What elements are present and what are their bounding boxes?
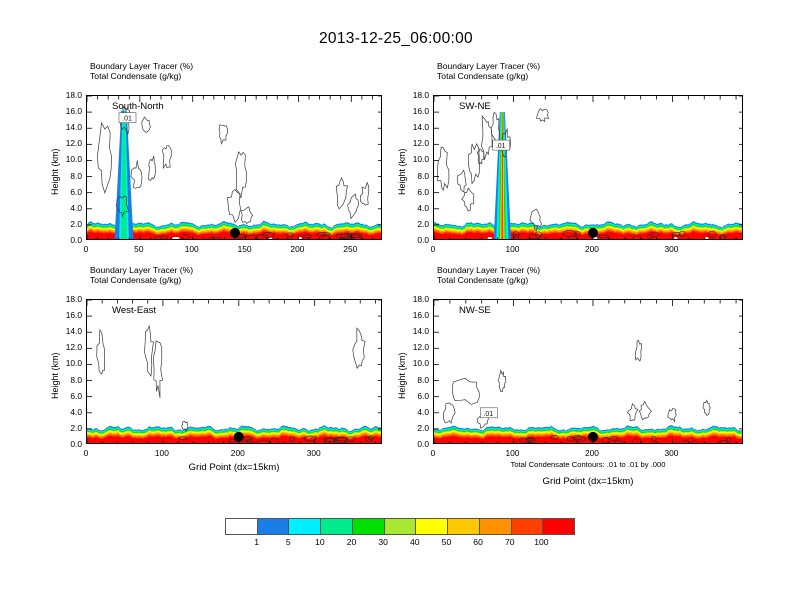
x-tick-label: 0	[413, 244, 453, 254]
condensate-contour	[360, 183, 368, 206]
condensate-contour	[481, 116, 492, 160]
colorbar-cell	[480, 519, 512, 534]
tracer-header-line: Boundary Layer Tracer (%)	[90, 265, 193, 275]
colorbar-tick-label: 40	[410, 537, 420, 547]
panel-label-south-north: South-North	[112, 101, 164, 112]
y-tick-label: 10.0	[54, 154, 82, 164]
condensate-header-line: Total Condensate (g/kg)	[437, 71, 540, 81]
panel-label-nw-se: NW-SE	[459, 305, 491, 316]
condensate-contour	[452, 378, 479, 404]
x-axis-label-nw-se: Grid Point (dx=15km)	[488, 476, 688, 487]
cross-section-field: .01	[434, 300, 743, 444]
colorbar-cell	[416, 519, 448, 534]
condensate-header-line: Total Condensate (g/kg)	[437, 275, 540, 285]
condensate-header-line: Total Condensate (g/kg)	[90, 71, 193, 81]
x-tick-label: 200	[572, 448, 612, 458]
x-tick-label: 100	[492, 244, 532, 254]
y-tick-label: 18.0	[401, 294, 429, 304]
condensate-contour	[635, 341, 642, 362]
condensate-contour	[437, 147, 449, 190]
y-tick-label: 14.0	[401, 326, 429, 336]
x-tick-label: 200	[572, 244, 612, 254]
condensate-contour	[235, 152, 246, 198]
panel-label-sw-ne: SW-NE	[459, 101, 491, 112]
condensate-contour	[131, 160, 142, 188]
colorbar-cell	[385, 519, 417, 534]
y-tick-label: 6.0	[54, 187, 82, 197]
y-tick-label: 16.0	[401, 106, 429, 116]
y-tick-label: 10.0	[54, 358, 82, 368]
figure-title: 2013-12-25_06:00:00	[0, 30, 792, 48]
condensate-contour	[639, 402, 651, 420]
y-tick-label: 12.0	[401, 138, 429, 148]
colorbar-cell	[543, 519, 574, 534]
panel-header-2: Boundary Layer Tracer (%)Total Condensat…	[437, 61, 540, 82]
x-tick-label: 100	[172, 244, 212, 254]
x-axis-label-west-east: Grid Point (dx=15km)	[134, 462, 334, 473]
y-tick-label: 16.0	[54, 310, 82, 320]
condensate-contour	[491, 112, 500, 144]
x-tick-label: 150	[225, 244, 265, 254]
x-tick-label: 200	[218, 448, 258, 458]
condensate-contour	[499, 370, 506, 391]
panel-header-3: Boundary Layer Tracer (%)Total Condensat…	[90, 265, 193, 286]
condensate-contour	[353, 328, 365, 368]
y-tick-label: 18.0	[401, 90, 429, 100]
y-tick-label: 4.0	[54, 407, 82, 417]
y-tick-label: 10.0	[401, 154, 429, 164]
colorbar-cell	[448, 519, 480, 534]
contour-interval-note: Total Condensate Contours: .01 to .01 by…	[478, 460, 698, 469]
y-tick-label: 4.0	[401, 203, 429, 213]
colorbar-cell	[226, 519, 258, 534]
x-tick-label: 250	[330, 244, 370, 254]
condensate-contour	[348, 194, 359, 219]
condensate-contour	[336, 178, 347, 209]
contour-label-text: .01	[496, 143, 506, 150]
colorbar-tick-label: 10	[315, 537, 325, 547]
x-tick-label: 300	[294, 448, 334, 458]
y-tick-label: 2.0	[54, 219, 82, 229]
y-tick-label: 2.0	[401, 219, 429, 229]
colorbar-cell	[353, 519, 385, 534]
y-tick-label: 14.0	[54, 122, 82, 132]
colorbar-tick-label: 30	[378, 537, 388, 547]
x-tick-label: 200	[277, 244, 317, 254]
y-tick-label: 8.0	[54, 171, 82, 181]
condensate-header-line: Total Condensate (g/kg)	[90, 275, 193, 285]
condensate-contour	[142, 117, 151, 132]
y-tick-label: 2.0	[54, 423, 82, 433]
plot-area-west-east[interactable]	[86, 299, 382, 444]
x-tick-label: 100	[142, 448, 182, 458]
x-tick-label: 0	[66, 448, 106, 458]
condensate-contour	[537, 109, 549, 122]
y-tick-label: 8.0	[401, 375, 429, 385]
colorbar-cell	[289, 519, 321, 534]
tracer-header-line: Boundary Layer Tracer (%)	[437, 265, 540, 275]
condensate-contour	[627, 404, 638, 421]
y-tick-label: 16.0	[401, 310, 429, 320]
x-tick-label: 100	[492, 448, 532, 458]
colorbar-labels: 1510203040506070100	[225, 537, 573, 551]
tracer-header-line: Boundary Layer Tracer (%)	[437, 61, 540, 71]
condensate-contour	[97, 330, 105, 374]
colorbar-tick-label: 20	[347, 537, 357, 547]
condensate-contour	[477, 149, 484, 164]
condensate-contour	[703, 400, 710, 415]
colorbar-tick-label: 70	[505, 537, 515, 547]
colorbar-cell	[258, 519, 290, 534]
y-tick-label: 14.0	[54, 326, 82, 336]
y-tick-label: 18.0	[54, 294, 82, 304]
x-tick-label: 0	[66, 244, 106, 254]
condensate-contour	[668, 409, 676, 422]
condensate-contour	[162, 146, 171, 169]
panel-header-1: Boundary Layer Tracer (%)Total Condensat…	[90, 61, 193, 82]
panel-label-west-east: West-East	[112, 305, 156, 316]
condensate-contour	[219, 125, 227, 144]
x-tick-label: 50	[119, 244, 159, 254]
y-tick-label: 8.0	[401, 171, 429, 181]
cross-section-field: .01	[434, 96, 743, 240]
condensate-contour	[227, 190, 240, 223]
condensate-contour	[144, 326, 153, 376]
plot-area-nw-se[interactable]: .01	[433, 299, 743, 444]
condensate-contour	[153, 341, 162, 398]
plot-area-south-north[interactable]: .01	[86, 95, 382, 240]
cross-section-field: .01	[87, 96, 382, 240]
y-tick-label: 18.0	[54, 90, 82, 100]
location-marker[interactable]	[230, 228, 240, 238]
y-tick-label: 14.0	[401, 122, 429, 132]
condensate-contour	[182, 421, 188, 431]
condensate-contour	[241, 207, 253, 224]
condensate-contour	[468, 144, 479, 184]
x-tick-label: 0	[413, 448, 453, 458]
tracer-header-line: Boundary Layer Tracer (%)	[90, 61, 193, 71]
y-tick-label: 12.0	[54, 138, 82, 148]
y-tick-label: 8.0	[54, 375, 82, 385]
condensate-contour	[457, 170, 466, 192]
colorbar-cell	[512, 519, 544, 534]
contour-label-text: .01	[122, 116, 132, 123]
condensate-contour	[443, 403, 455, 423]
panel-header-4: Boundary Layer Tracer (%)Total Condensat…	[437, 265, 540, 286]
colorbar-cell	[321, 519, 353, 534]
colorbar-tick-label: 60	[473, 537, 483, 547]
x-tick-label: 300	[651, 244, 691, 254]
condensate-contour	[97, 123, 111, 193]
figure-canvas: 2013-12-25_06:00:00 Boundary Layer Trace…	[0, 0, 792, 612]
condensate-contour	[149, 156, 156, 181]
colorbar-tick-label: 100	[534, 537, 548, 547]
y-tick-label: 12.0	[54, 342, 82, 352]
colorbar	[225, 518, 575, 535]
y-tick-label: 12.0	[401, 342, 429, 352]
y-tick-label: 16.0	[54, 106, 82, 116]
y-tick-label: 6.0	[54, 391, 82, 401]
y-tick-label: 10.0	[401, 358, 429, 368]
contour-label-text: .01	[483, 411, 493, 418]
y-tick-label: 4.0	[401, 407, 429, 417]
plot-area-sw-ne[interactable]: .01	[433, 95, 743, 240]
x-tick-label: 300	[651, 448, 691, 458]
y-tick-label: 6.0	[401, 391, 429, 401]
y-tick-label: 4.0	[54, 203, 82, 213]
colorbar-tick-label: 1	[254, 537, 259, 547]
y-tick-label: 6.0	[401, 187, 429, 197]
cross-section-field	[87, 300, 382, 444]
colorbar-tick-label: 5	[286, 537, 291, 547]
y-tick-label: 2.0	[401, 423, 429, 433]
colorbar-tick-label: 50	[442, 537, 452, 547]
